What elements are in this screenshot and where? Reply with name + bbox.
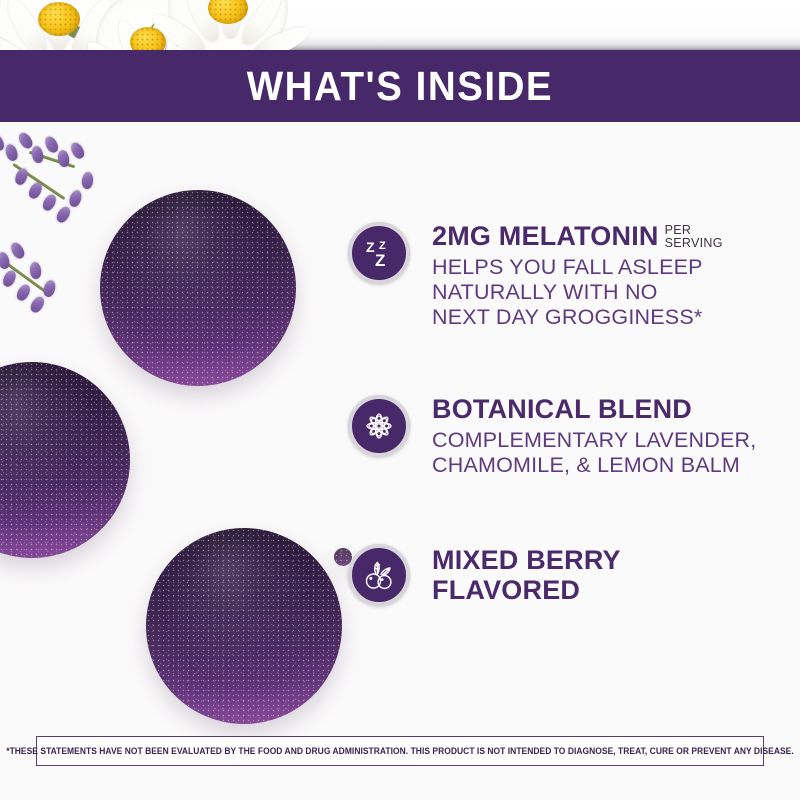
melatonin-gummy xyxy=(0,362,130,558)
melatonin-gummy xyxy=(100,190,296,386)
feature-melatonin: Z Z Z 2MG MELATONIN PER SERVING HELPS YO… xyxy=(348,222,723,330)
feature-heading: MIXED BERRY FLAVORED xyxy=(432,545,621,605)
lavender-sprigs xyxy=(0,240,84,330)
daisy-icon xyxy=(168,0,288,50)
zzz-icon: Z Z Z xyxy=(348,222,410,284)
feature-body: COMPLEMENTARY LAVENDER, CHAMOMILE, & LEM… xyxy=(432,428,756,478)
berry-icon xyxy=(348,544,410,606)
infographic-page: WHAT'S INSIDE xyxy=(0,0,800,800)
feature-botanical: BOTANICAL BLEND COMPLEMENTARY LAVENDER, … xyxy=(348,395,756,478)
feature-heading: 2MG MELATONIN xyxy=(432,223,659,251)
flower-rosette-icon xyxy=(348,395,410,457)
disclaimer-box: *THESE STATEMENTS HAVE NOT BEEN EVALUATE… xyxy=(36,736,764,766)
disclaimer-text: *THESE STATEMENTS HAVE NOT BEEN EVALUATE… xyxy=(6,746,794,756)
page-title: WHAT'S INSIDE xyxy=(247,63,553,110)
feature-flavor: MIXED BERRY FLAVORED xyxy=(348,544,621,606)
svg-text:Z: Z xyxy=(366,239,375,255)
feature-heading-superscript: PER SERVING xyxy=(665,224,723,250)
feature-body: HELPS YOU FALL ASLEEP NATURALLY WITH NO … xyxy=(432,255,723,330)
chamomile-flowers xyxy=(0,0,800,50)
lavender-sprigs xyxy=(0,128,110,238)
svg-text:Z: Z xyxy=(375,251,385,270)
melatonin-gummy xyxy=(146,528,342,724)
header-banner: WHAT'S INSIDE xyxy=(0,50,800,122)
feature-heading: BOTANICAL BLEND xyxy=(432,396,692,424)
